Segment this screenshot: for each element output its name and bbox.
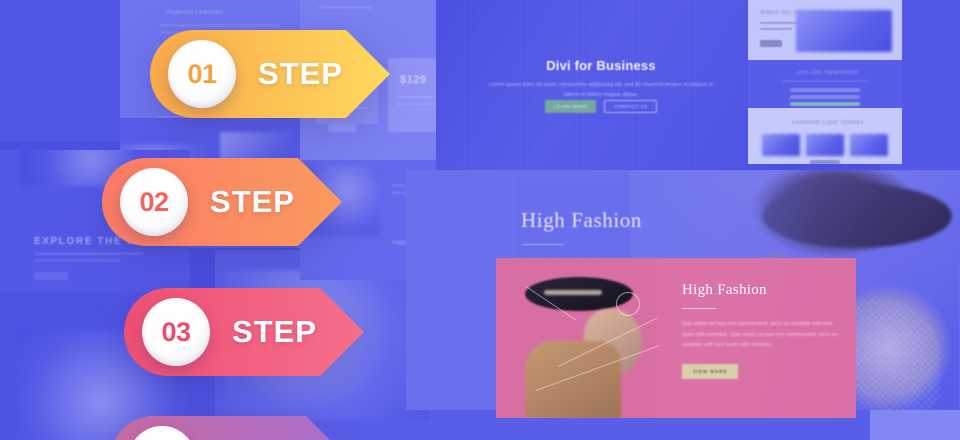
high-fashion-card-text: Quis autem vel eum iure reprehenderit, q… [682, 319, 838, 351]
bg-mock-heading: Join Our Newsletter [796, 70, 858, 76]
divi-business-subtitle: Lorem ipsum dolor sit amet, consectetur … [486, 80, 716, 101]
title-divider [522, 244, 564, 245]
bg-mock-portfolio-section: Featured Case Studies [748, 108, 902, 164]
hat-band-shape [544, 290, 602, 295]
bg-mock-signup-section: Join Our Newsletter [748, 60, 902, 108]
coat-shape [525, 341, 621, 418]
divi-business-hero: Divi for Business Lorem ipsum dolor sit … [436, 0, 766, 177]
divi-business-buttons: LEARN MORE CONTACT US [436, 100, 766, 113]
bg-mock-site-column: Watch our Full Story Join Our Newsletter… [748, 0, 902, 164]
bg-mock-heading: Featured Case Studies [792, 120, 864, 126]
step-badge-02[interactable]: 02 STEP [102, 158, 342, 246]
model-fedora-photo [496, 258, 656, 418]
bg-price-two: $129 [400, 74, 426, 86]
step-number-03: 03 [161, 317, 190, 348]
step-badge-03[interactable]: 03 STEP [124, 288, 364, 376]
high-fashion-card-body: High Fashion Quis autem vel eum iure rep… [682, 282, 838, 379]
step-badge-04[interactable]: 04 STEP [110, 416, 350, 440]
step-label-01: STEP [258, 56, 343, 92]
view-more-button[interactable]: VIEW MORE [682, 364, 738, 379]
circle-accent-icon [616, 292, 640, 316]
divi-business-title: Divi for Business [436, 58, 766, 73]
step-number-circle-03: 03 [142, 298, 210, 366]
high-fashion-card-title: High Fashion [682, 282, 838, 299]
high-fashion-hero-title: High Fashion [521, 208, 642, 233]
contact-us-button[interactable]: CONTACT US [604, 100, 657, 113]
bg-mock-video-section: Watch our Full Story [748, 0, 902, 60]
step-badge-01[interactable]: 01 STEP [150, 30, 390, 118]
bg-mock-heading: Powerful Features [166, 10, 223, 16]
step-label-03: STEP [232, 314, 317, 350]
step-number-02: 02 [139, 187, 168, 218]
banner-canvas: Powerful Features Our Blog EXPLORE THE W… [0, 0, 960, 440]
step-number-circle-02: 02 [120, 168, 188, 236]
step-number-circle-01: 01 [168, 40, 236, 108]
step-number-01: 01 [187, 59, 216, 90]
step-label-02: STEP [210, 184, 295, 220]
high-fashion-card: High Fashion Quis autem vel eum iure rep… [496, 258, 856, 418]
card-title-divider [682, 308, 716, 309]
learn-more-button[interactable]: LEARN MORE [545, 100, 597, 113]
